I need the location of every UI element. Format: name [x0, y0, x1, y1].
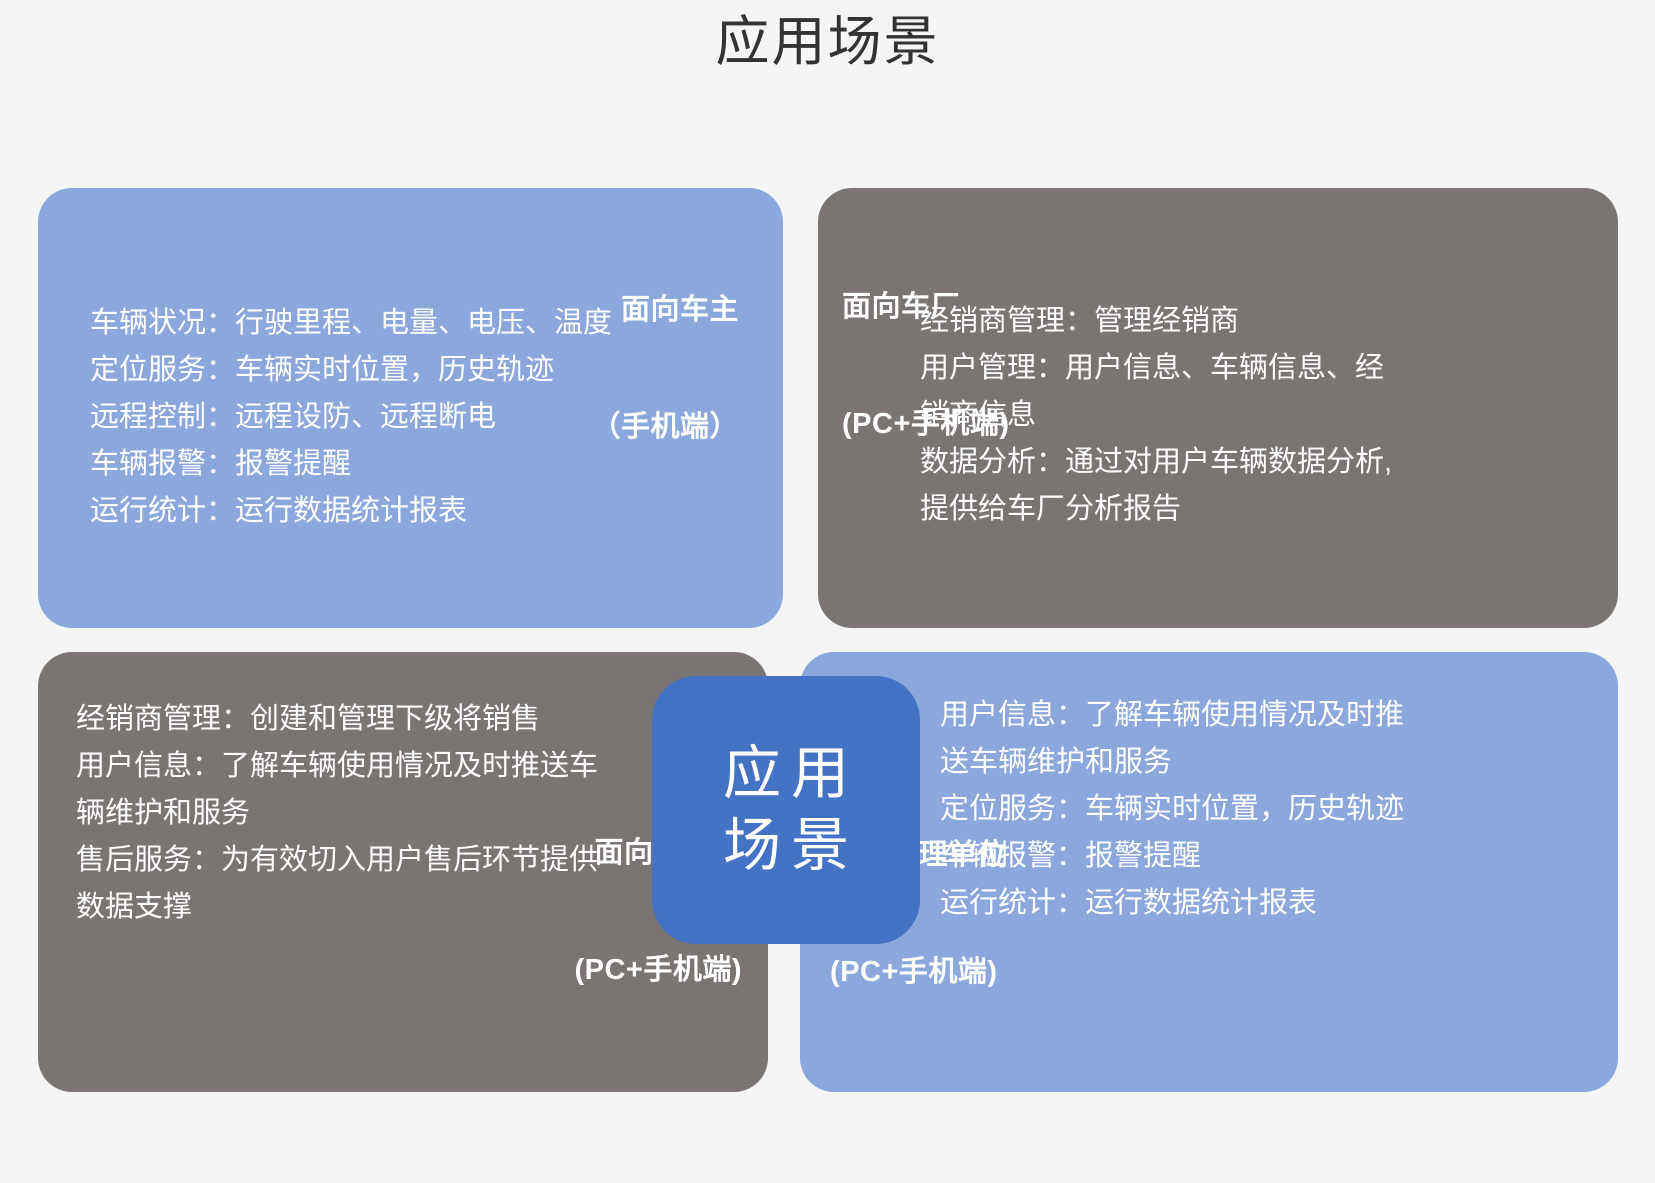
- panel-line: 送车辆维护和服务: [940, 739, 1610, 786]
- panel-line: 定位服务：车辆实时位置，历史轨迹: [90, 347, 753, 394]
- panel-header-line2: (PC+手机端): [574, 951, 742, 990]
- panel-body-vehicle-factory: 经销商管理：管理经销商 用户管理：用户信息、车辆信息、经 销商信息 数据分析：通…: [920, 298, 1608, 533]
- panel-line: 车辆报警：报警提醒: [90, 441, 753, 488]
- panel-line: 销商信息: [920, 392, 1608, 439]
- center-badge-line2: 场景: [713, 810, 859, 882]
- panel-body-vehicle-owner: 车辆状况：行驶里程、电量、电压、温度 定位服务：车辆实时位置，历史轨迹 远程控制…: [90, 300, 753, 535]
- panel-vehicle-owner[interactable]: 面向车主 （手机端） 车辆状况：行驶里程、电量、电压、温度 定位服务：车辆实时位…: [38, 188, 783, 628]
- panel-line: 用户管理：用户信息、车辆信息、经: [920, 345, 1608, 392]
- panel-line: 数据分析：通过对用户车辆数据分析,: [920, 439, 1608, 486]
- panel-line: 车辆状况：行驶里程、电量、电压、温度: [90, 300, 753, 347]
- panel-line: 运行统计：运行数据统计报表: [940, 880, 1610, 927]
- panel-line: 提供给车厂分析报告: [920, 486, 1608, 533]
- center-badge-application-scenario[interactable]: 应用 场景: [652, 676, 920, 944]
- center-badge-line1: 应用: [713, 738, 859, 810]
- panel-body-management-unit: 用户信息：了解车辆使用情况及时推 送车辆维护和服务 定位服务：车辆实时位置，历史…: [940, 692, 1610, 927]
- scenario-board: 面向车主 （手机端） 车辆状况：行驶里程、电量、电压、温度 定位服务：车辆实时位…: [0, 180, 1655, 1100]
- panel-line: 经销商管理：管理经销商: [920, 298, 1608, 345]
- panel-management-unit[interactable]: 用户信息：了解车辆使用情况及时推 送车辆维护和服务 定位服务：车辆实时位置，历史…: [800, 652, 1618, 1092]
- panel-line: 定位服务：车辆实时位置，历史轨迹: [940, 786, 1610, 833]
- panel-line: 远程控制：远程设防、远程断电: [90, 394, 753, 441]
- panel-header-line2: (PC+手机端): [830, 953, 1007, 992]
- panel-line: 车辆报警：报警提醒: [940, 833, 1610, 880]
- page-title: 应用场景: [0, 6, 1655, 78]
- panel-line: 用户信息：了解车辆使用情况及时推: [940, 692, 1610, 739]
- panel-vehicle-factory[interactable]: 面向车厂 (PC+手机端) 经销商管理：管理经销商 用户管理：用户信息、车辆信息…: [818, 188, 1618, 628]
- panel-line: 运行统计：运行数据统计报表: [90, 488, 753, 535]
